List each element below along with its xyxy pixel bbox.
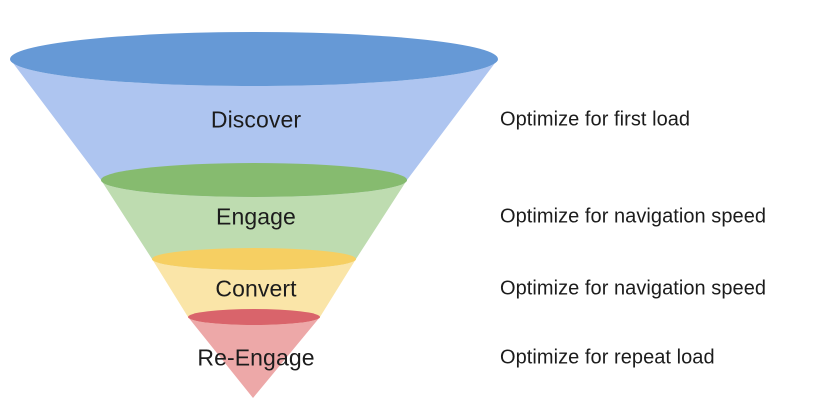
funnel-segment-convert-top-ellipse: [152, 248, 356, 270]
funnel-side-label-discover: Optimize for first load: [500, 109, 690, 132]
funnel-diagram: Discover Engage Convert Re-Engage Optimi…: [0, 0, 837, 417]
funnel-segment-engage-top-ellipse: [101, 163, 407, 197]
funnel-stage-label-discover: Discover: [211, 107, 301, 134]
funnel-side-label-re-engage: Optimize for repeat load: [500, 347, 715, 370]
funnel-stage-label-convert: Convert: [215, 276, 296, 303]
funnel-side-label-engage: Optimize for navigation speed: [500, 206, 766, 229]
funnel-stage-label-re-engage: Re-Engage: [197, 345, 314, 372]
funnel-segment-re-engage-top-ellipse: [188, 309, 320, 325]
funnel-stage-label-engage: Engage: [216, 204, 296, 231]
funnel-side-label-convert: Optimize for navigation speed: [500, 278, 766, 301]
funnel-segment-discover-top-ellipse: [10, 32, 498, 86]
